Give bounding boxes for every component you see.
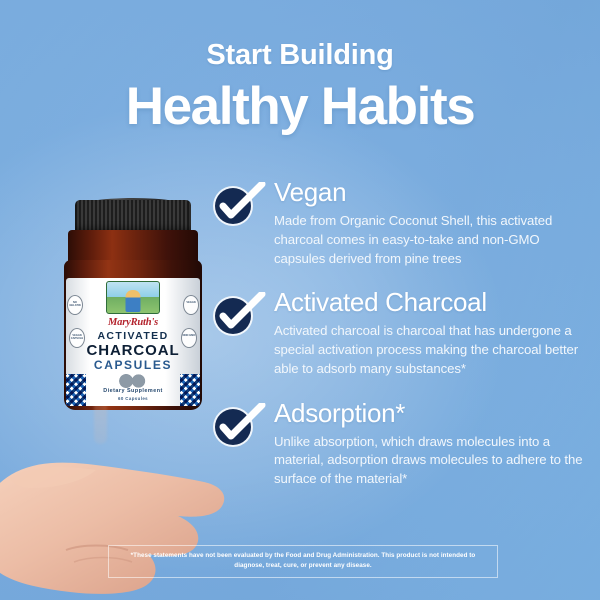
check-circle-icon <box>212 403 268 449</box>
supplement-label: Dietary Supplement <box>66 388 200 394</box>
feature-item-vegan: Vegan Made from Organic Coconut Shell, t… <box>212 178 590 268</box>
vegan-seal: VEGAN <box>183 295 199 315</box>
feature-title: Vegan <box>274 178 590 207</box>
no-gelatin-seal: NO GELATIN <box>67 295 83 315</box>
check-circle-icon <box>212 292 268 338</box>
feature-item-activated-charcoal: Activated Charcoal Activated charcoal is… <box>212 288 590 378</box>
feature-list: Vegan Made from Organic Coconut Shell, t… <box>212 178 590 489</box>
coconut-emblem-icon <box>110 373 156 389</box>
feature-body: Unlike absorption, which draws molecules… <box>274 433 590 489</box>
feature-title: Activated Charcoal <box>274 288 590 317</box>
label-line-activated: ACTIVATED <box>66 330 200 342</box>
disclaimer-text: *These statements have not been evaluate… <box>119 551 487 571</box>
headline-block: Start Building Healthy Habits <box>0 40 600 135</box>
label-line-capsules: CAPSULES <box>66 358 200 372</box>
fda-disclaimer-box: *These statements have not been evaluate… <box>108 545 498 578</box>
capsule-count: 60 Capsules <box>66 396 200 401</box>
feature-body: Made from Organic Coconut Shell, this ac… <box>274 212 590 268</box>
product-bottle: NO GELATIN VEGAN CAPSULE VEGAN NON GMO M… <box>58 200 208 415</box>
feature-body: Activated charcoal is charcoal that has … <box>274 322 590 378</box>
brand-name: MaryRuth's <box>66 317 200 328</box>
kicker-text: Start Building <box>0 40 600 72</box>
feature-item-adsorption: Adsorption* Unlike absorption, which dra… <box>212 399 590 489</box>
label-line-charcoal: CHARCOAL <box>66 342 200 359</box>
check-circle-icon <box>212 182 268 228</box>
vegan-capsule-seal: VEGAN CAPSULE <box>69 328 85 348</box>
product-label: MaryRuth's ACTIVATED CHARCOAL CAPSULES D… <box>66 278 200 406</box>
label-figure-icon <box>126 290 141 312</box>
page-title: Healthy Habits <box>0 78 600 135</box>
feature-title: Adsorption* <box>274 399 590 428</box>
bottle-cap <box>75 200 191 234</box>
non-gmo-seal: NON GMO <box>181 328 197 348</box>
label-artwork <box>106 281 160 314</box>
